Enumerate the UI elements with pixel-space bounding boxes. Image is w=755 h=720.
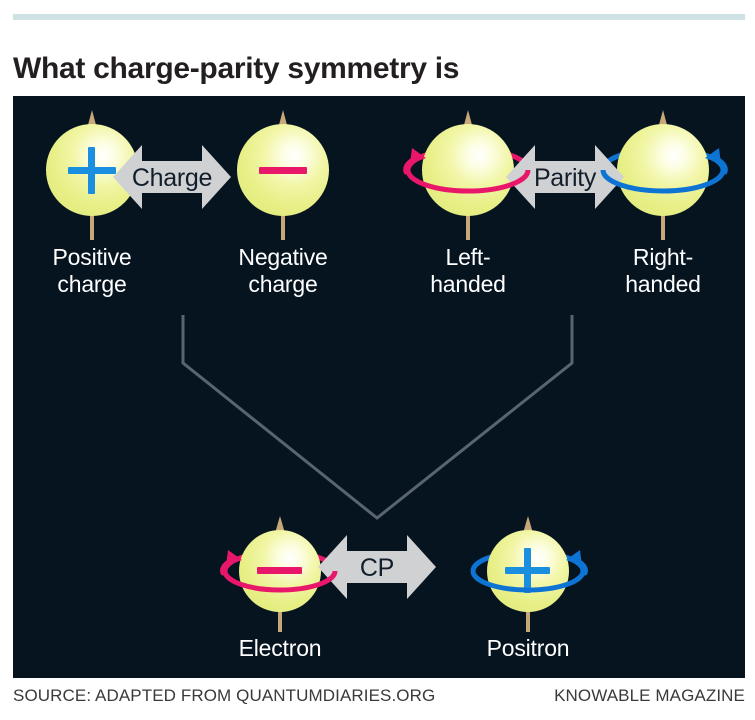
exchange-label-cp: CP <box>318 554 436 583</box>
footer-source: SOURCE: ADAPTED FROM QUANTUMDIARIES.ORG <box>13 686 435 706</box>
figure-panel: Positive charge Charge Negative charge <box>13 96 745 678</box>
charge-glyph-negative <box>237 124 329 216</box>
connector-path <box>183 315 572 518</box>
accent-bar <box>13 14 745 20</box>
footer-credit: KNOWABLE MAGAZINE <box>554 686 745 706</box>
spin-ring-right-handed-front-icon <box>448 510 608 635</box>
spin-ring-right-handed-front-icon <box>583 104 743 244</box>
exchange-label-charge: Charge <box>113 164 231 193</box>
page-title: What charge-parity symmetry is <box>13 52 745 86</box>
